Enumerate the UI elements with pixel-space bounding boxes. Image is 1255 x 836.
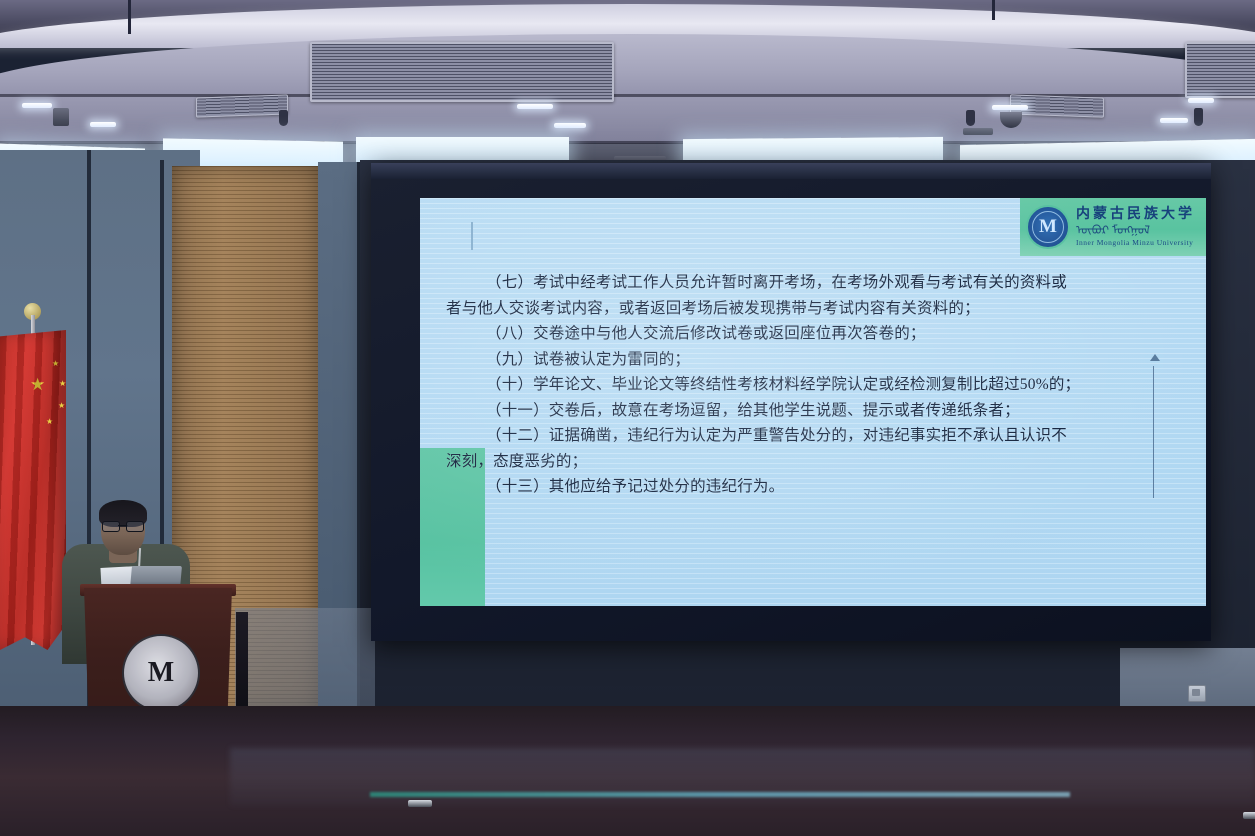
presentation-slide[interactable]: M 内蒙古民族大学 ᠦᠪᠦᠷ ᠮᠣᠩᠭᠣᠯ Inner Mongolia Min… bbox=[420, 198, 1206, 606]
slide-line-3: （八）交卷途中与他人交流后修改试卷或返回座位再次答卷的； bbox=[420, 321, 1196, 347]
flag-fold-shading bbox=[0, 330, 66, 650]
slide-text-body: （七）考试中经考试工作人员允许暂时离开考场，在考场外观看与考试有关的资料或 者与… bbox=[420, 270, 1196, 500]
seal-glyph: M bbox=[1028, 216, 1068, 238]
hvac-vent-center bbox=[310, 42, 614, 102]
ceiling-strip-light-8 bbox=[1160, 118, 1188, 123]
floor-object-2 bbox=[1243, 812, 1255, 819]
hvac-vent-left-small bbox=[196, 94, 288, 117]
floor-object-1 bbox=[408, 800, 432, 807]
slide-line-9: （十三）其他应给予记过处分的违纪行为。 bbox=[420, 474, 1196, 500]
floor-reflection bbox=[230, 748, 1255, 806]
wall-socket-panel bbox=[1188, 685, 1206, 702]
slide-line-6: （十一）交卷后，故意在考场逗留，给其他学生说题、提示或者传递纸条者； bbox=[420, 398, 1196, 424]
ceiling-spotlight-2 bbox=[966, 110, 975, 126]
ceiling-spotlight-1 bbox=[279, 110, 288, 126]
ceiling-strip-light-7 bbox=[1188, 98, 1214, 103]
ceiling-strip-light-2 bbox=[90, 122, 116, 127]
slide-line-7: （十二）证据确凿，违纪行为认定为严重警告处分的，对违纪事实拒不承认且认识不 bbox=[420, 423, 1196, 449]
ceiling-spotlight-3 bbox=[1194, 108, 1203, 126]
floor-light-reflection bbox=[370, 792, 1070, 797]
podium-emblem-glyph: M bbox=[148, 657, 174, 689]
hvac-vent-right bbox=[1185, 42, 1255, 98]
ceiling-speaker-left bbox=[53, 108, 69, 126]
ceiling-strip-light-1 bbox=[22, 103, 52, 108]
podium-university-emblem: M bbox=[122, 634, 200, 712]
university-name-mn: ᠦᠪᠦᠷ ᠮᠣᠩᠭᠣᠯ bbox=[1076, 224, 1195, 236]
slide-tick-mark bbox=[471, 222, 473, 250]
projection-screen-bezel bbox=[371, 163, 1211, 179]
speaker-stand-pole bbox=[236, 612, 248, 708]
slide-line-4: （九）试卷被认定为雷同的； bbox=[420, 347, 1196, 373]
slide-line-1: （七）考试中经考试工作人员允许暂时离开考场，在考场外观看与考试有关的资料或 bbox=[420, 270, 1196, 296]
ceiling-speaker-right bbox=[963, 128, 993, 135]
slide-line-8: 深刻，态度恶劣的； bbox=[420, 449, 1196, 475]
ceiling-hanger-right bbox=[992, 0, 995, 20]
university-seal-icon: M bbox=[1026, 205, 1070, 249]
wall-behind-podium bbox=[235, 608, 375, 708]
ceiling-strip-light-5 bbox=[992, 105, 1028, 110]
university-name-cn: 内蒙古民族大学 bbox=[1076, 208, 1195, 222]
slide-line-2: 者与他人交谈考试内容，或者返回考场后被发现携带与考试内容有关资料的； bbox=[420, 296, 1196, 322]
ceiling-strip-light-3 bbox=[517, 104, 553, 109]
university-name-en: Inner Mongolia Minzu University bbox=[1076, 239, 1195, 247]
glasses-icon bbox=[102, 521, 144, 530]
university-logo-banner: M 内蒙古民族大学 ᠦᠪᠦᠷ ᠮᠣᠩᠭᠣᠯ Inner Mongolia Min… bbox=[1020, 198, 1206, 256]
ceiling-strip-light-4 bbox=[554, 123, 586, 128]
lecture-hall-photo: M 内蒙古民族大学 ᠦᠪᠦᠷ ᠮᠣᠩᠭᠣᠯ Inner Mongolia Min… bbox=[0, 0, 1255, 836]
slide-line-5: （十）学年论文、毕业论文等终结性考核材料经学院认定或经检测复制比超过50%的； bbox=[420, 372, 1196, 398]
ceiling-hanger-left bbox=[128, 0, 131, 34]
